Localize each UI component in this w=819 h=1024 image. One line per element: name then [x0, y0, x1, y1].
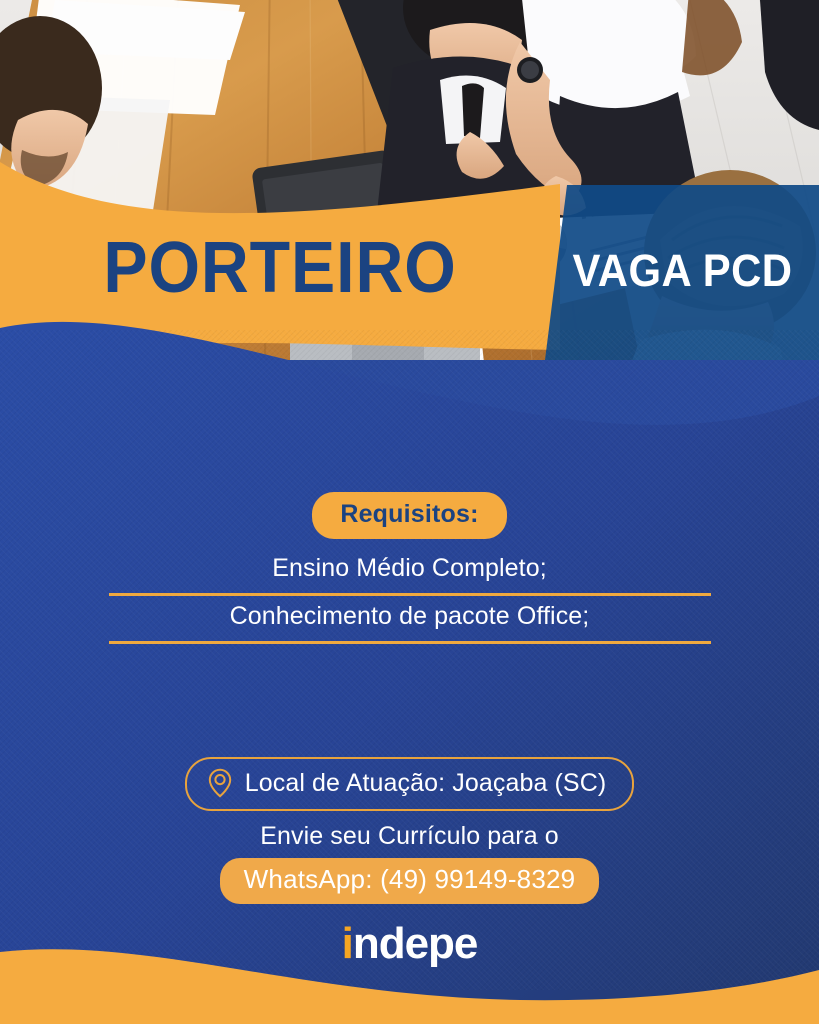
whatsapp-wrap: WhatsApp: (49) 99149-8329 [0, 858, 819, 904]
whatsapp-badge: WhatsApp: (49) 99149-8329 [220, 858, 600, 904]
job-posting-poster: PORTEIRO VAGA PCD Requisitos: Ensino Méd… [0, 0, 819, 1024]
divider [109, 641, 711, 644]
status-badge: VAGA PCD [569, 248, 797, 293]
requirements-list: Ensino Médio Completo; Conhecimento de p… [0, 548, 819, 644]
blue-body-svg [0, 300, 819, 1024]
location-wrap: Local de Atuação: Joaçaba (SC) [0, 757, 819, 811]
location-pill: Local de Atuação: Joaçaba (SC) [185, 757, 635, 811]
logo-inner: indepe [342, 922, 478, 966]
page-title: PORTEIRO [22, 232, 537, 304]
location-label: Local de Atuação: Joaçaba (SC) [245, 769, 607, 798]
cv-instruction: Envie seu Currículo para o [0, 822, 819, 851]
list-item: Conhecimento de pacote Office; [0, 596, 819, 639]
logo-letter-i: i [342, 919, 353, 968]
requirements-heading: Requisitos: [312, 492, 506, 539]
blue-body-shape [0, 300, 819, 1024]
requirements-heading-wrap: Requisitos: [0, 492, 819, 539]
list-item: Ensino Médio Completo; [0, 548, 819, 591]
logo-letters-rest: ndepe [353, 919, 478, 968]
map-pin-icon [207, 768, 233, 798]
brand-logo: indepe [0, 922, 819, 966]
